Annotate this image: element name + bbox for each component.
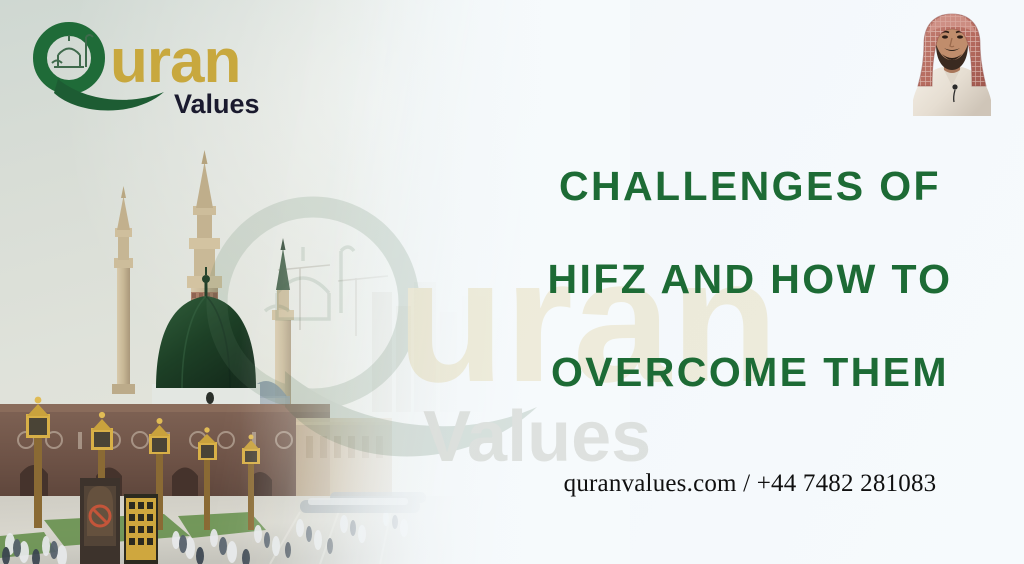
- contact-line[interactable]: quranvalues.com / +44 7482 281083: [492, 470, 1008, 498]
- presenter-photo: [898, 4, 1006, 116]
- headline-line-2: HIFZ AND HOW TO: [492, 233, 1008, 326]
- headline-line-3: OVERCOME THEM: [492, 326, 1008, 419]
- promo-banner: uran Values: [0, 0, 1024, 564]
- mosque-icon: [52, 35, 93, 67]
- brand-logo[interactable]: uran Values: [22, 18, 287, 118]
- logo-word-main: uran: [110, 27, 240, 96]
- headline: CHALLENGES OF HIFZ AND HOW TO OVERCOME T…: [492, 140, 1008, 419]
- logo-word-sub: Values: [174, 89, 260, 118]
- headline-line-1: CHALLENGES OF: [492, 140, 1008, 233]
